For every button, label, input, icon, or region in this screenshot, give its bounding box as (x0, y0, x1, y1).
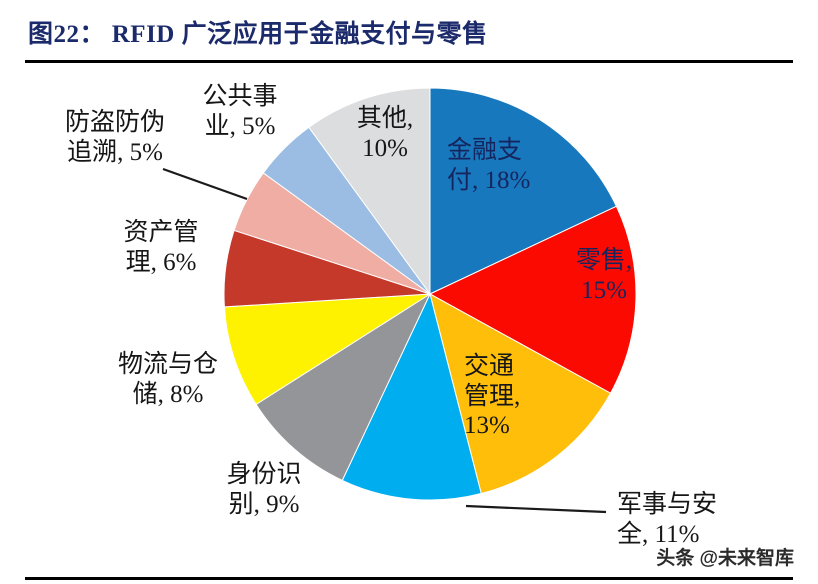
pie-label-asset-management: 资产管 理, 6% (85, 218, 237, 277)
watermark-text: 头条 @未来智库 (656, 543, 794, 570)
pie-label-public-services: 公共事 业, 5% (176, 82, 304, 141)
pie-label-finance: 金融支 付, 18% (447, 136, 597, 195)
footer-divider (25, 577, 793, 580)
pie-label-other: 其他, 10% (330, 104, 440, 163)
leader-line-military (466, 506, 606, 512)
pie-label-traffic-management: 交通 管理, 13% (464, 352, 574, 441)
pie-label-retail: 零售, 15% (540, 246, 668, 305)
pie-label-military-security: 军事与安 全, 11% (617, 490, 777, 549)
pie-chart: 金融支 付, 18% 零售, 15% 交通 管理, 13% 其他, 10% 军事… (0, 62, 818, 562)
figure-header: 图22： RFID 广泛应用于金融支付与零售 (0, 0, 818, 62)
pie-label-identity-recognition: 身份识 别, 9% (200, 460, 328, 519)
pie-label-logistics-warehousing: 物流与仓 储, 8% (78, 350, 258, 409)
pie-label-antitheft-traceability: 防盗防伪 追溯, 5% (30, 108, 200, 167)
leader-line-antitheft (163, 169, 247, 199)
page-title: 图22： RFID 广泛应用于金融支付与零售 (28, 14, 488, 50)
